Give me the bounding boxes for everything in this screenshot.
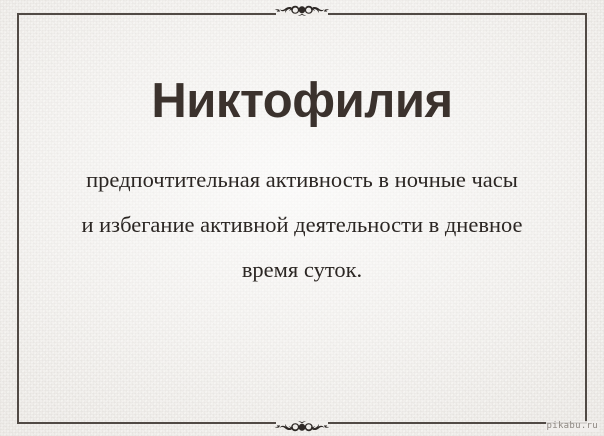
definition-text: предпочтительная активность в ночные час…: [24, 157, 580, 292]
card-content: Никтофилия предпочтительная активность в…: [17, 13, 587, 424]
definition-line: время суток.: [24, 247, 580, 292]
definition-card: Никтофилия предпочтительная активность в…: [0, 0, 604, 436]
term-title: Никтофилия: [151, 76, 452, 127]
definition-line: предпочтительная активность в ночные час…: [24, 157, 580, 202]
site-watermark: pikabu.ru: [546, 421, 599, 432]
definition-line: и избегание активной деятельности в днев…: [24, 202, 580, 247]
